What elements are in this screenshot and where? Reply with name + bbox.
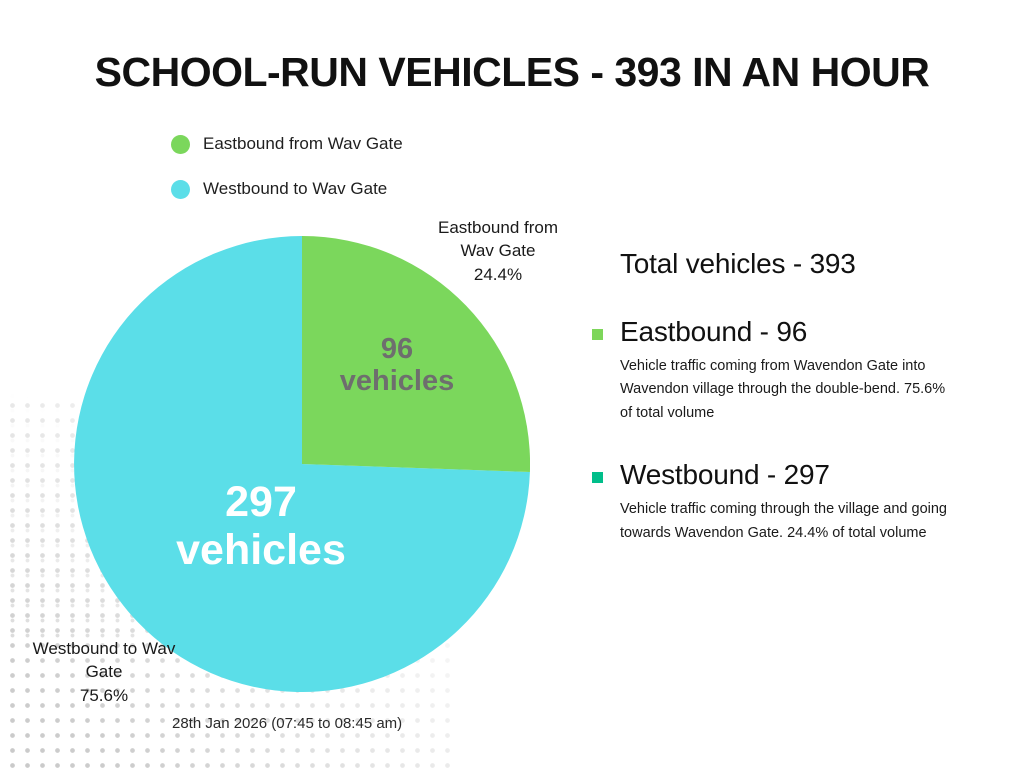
summary-heading-row-westbound: Westbound - 297 <box>592 459 992 491</box>
pie-callout-name-eastbound: Eastbound from Wav Gate <box>438 216 558 263</box>
pie-callout-westbound: Westbound to Wav Gate 75.6% <box>24 637 184 707</box>
pie-chart-infographic: SCHOOL-RUN VEHICLES - 393 IN AN HOUR Eas… <box>0 0 1024 768</box>
legend-dot-green-icon <box>171 135 190 154</box>
chart-legend: Eastbound from Wav Gate Westbound to Wav… <box>171 130 403 220</box>
pie-chart-graphic <box>74 236 530 692</box>
summary-item-eastbound: Eastbound - 96 Vehicle traffic coming fr… <box>592 316 992 425</box>
legend-dot-cyan-icon <box>171 180 190 199</box>
chart-caption: 28th Jan 2026 (07:45 to 08:45 am) <box>172 715 402 732</box>
chart-title: SCHOOL-RUN VEHICLES - 393 IN AN HOUR <box>0 49 1024 96</box>
summary-heading-westbound: Westbound - 297 <box>620 459 830 491</box>
total-vehicles-label: Total vehicles - 393 <box>620 248 992 280</box>
summary-panel: Total vehicles - 393 Eastbound - 96 Vehi… <box>592 248 992 579</box>
summary-item-westbound: Westbound - 297 Vehicle traffic coming t… <box>592 459 992 545</box>
summary-heading-row-eastbound: Eastbound - 96 <box>592 316 992 348</box>
summary-heading-eastbound: Eastbound - 96 <box>620 316 807 348</box>
pie-svg <box>74 236 530 692</box>
legend-label-westbound: Westbound to Wav Gate <box>203 179 387 199</box>
square-bullet-green-icon <box>592 329 603 340</box>
legend-item-westbound[interactable]: Westbound to Wav Gate <box>171 175 403 203</box>
legend-label-eastbound: Eastbound from Wav Gate <box>203 134 403 154</box>
pie-callout-percent-eastbound: 24.4% <box>438 263 558 286</box>
square-bullet-teal-icon <box>592 472 603 483</box>
legend-item-eastbound[interactable]: Eastbound from Wav Gate <box>171 130 403 158</box>
pie-callout-eastbound: Eastbound from Wav Gate 24.4% <box>438 216 558 286</box>
pie-callout-name-westbound: Westbound to Wav Gate <box>24 637 184 684</box>
pie-callout-percent-westbound: 75.6% <box>24 684 184 707</box>
summary-body-eastbound: Vehicle traffic coming from Wavendon Gat… <box>620 355 950 425</box>
summary-body-westbound: Vehicle traffic coming through the villa… <box>620 498 950 545</box>
